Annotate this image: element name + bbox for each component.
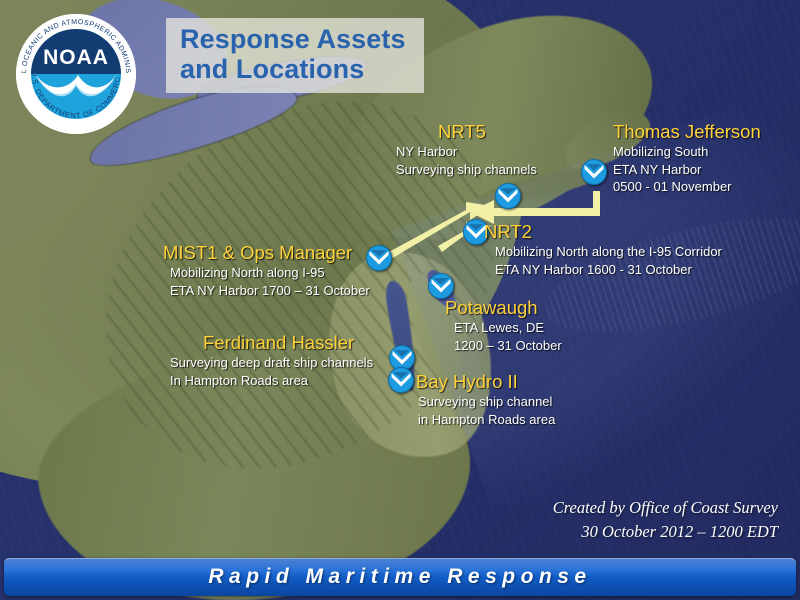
noaa-ship-marker-icon xyxy=(427,272,455,300)
banner-highlight xyxy=(4,558,796,577)
asset-name: NRT5 xyxy=(438,122,537,141)
asset-description: ETA Lewes, DE 1200 – 31 October xyxy=(454,319,562,353)
slide-canvas: NOAA NATIONAL OCEANIC AND ATMOSPHERIC AD… xyxy=(0,0,800,600)
asset-label-nrt5: NRT5 NY Harbor Surveying ship channels xyxy=(396,122,537,178)
marker-bay-hydro-ii[interactable] xyxy=(387,366,415,394)
page-title: Response Assets and Locations xyxy=(166,18,424,93)
asset-label-nrt2: NRT2 Mobilizing North along the I-95 Cor… xyxy=(484,222,722,278)
asset-name: Potawaugh xyxy=(445,298,562,317)
credit-text: Created by Office of Coast Survey 30 Oct… xyxy=(553,496,778,544)
asset-name: Ferdinand Hassler xyxy=(203,333,373,352)
asset-name: NRT2 xyxy=(484,222,722,241)
asset-description: Surveying ship channel in Hampton Roads … xyxy=(418,393,555,427)
noaa-ship-marker-icon xyxy=(494,182,522,210)
asset-description: Mobilizing South ETA NY Harbor 0500 - 01… xyxy=(613,143,761,194)
asset-label-bay-hydro-ii: Bay Hydro II Surveying ship channel in H… xyxy=(416,372,555,428)
noaa-ship-marker-icon xyxy=(387,366,415,394)
noaa-ship-marker-icon xyxy=(580,158,608,186)
noaa-logo: NOAA NATIONAL OCEANIC AND ATMOSPHERIC AD… xyxy=(14,12,138,136)
asset-label-mist1-ops-manager: MIST1 & Ops Manager Mobilizing North alo… xyxy=(163,243,370,299)
bottom-banner: Rapid Maritime Response xyxy=(4,558,796,596)
asset-label-potawaugh: Potawaugh ETA Lewes, DE 1200 – 31 Octobe… xyxy=(445,298,562,354)
asset-description: Surveying deep draft ship channels In Ha… xyxy=(170,354,373,388)
asset-description: Mobilizing North along I-95 ETA NY Harbo… xyxy=(170,264,370,298)
asset-name: Bay Hydro II xyxy=(416,372,555,391)
asset-label-ferdinand-hassler: Ferdinand Hassler Surveying deep draft s… xyxy=(203,333,373,389)
noaa-wordmark: NOAA xyxy=(43,46,109,69)
marker-nrt5[interactable] xyxy=(494,182,522,210)
marker-potawaugh[interactable] xyxy=(427,272,455,300)
page-title-text: Response Assets and Locations xyxy=(180,24,406,84)
asset-name: MIST1 & Ops Manager xyxy=(163,243,370,262)
marker-thomas-jefferson[interactable] xyxy=(580,158,608,186)
asset-label-thomas-jefferson: Thomas Jefferson Mobilizing South ETA NY… xyxy=(613,122,761,195)
asset-description: Mobilizing North along the I-95 Corridor… xyxy=(495,243,722,277)
asset-name: Thomas Jefferson xyxy=(613,122,761,141)
asset-description: NY Harbor Surveying ship channels xyxy=(396,143,537,177)
